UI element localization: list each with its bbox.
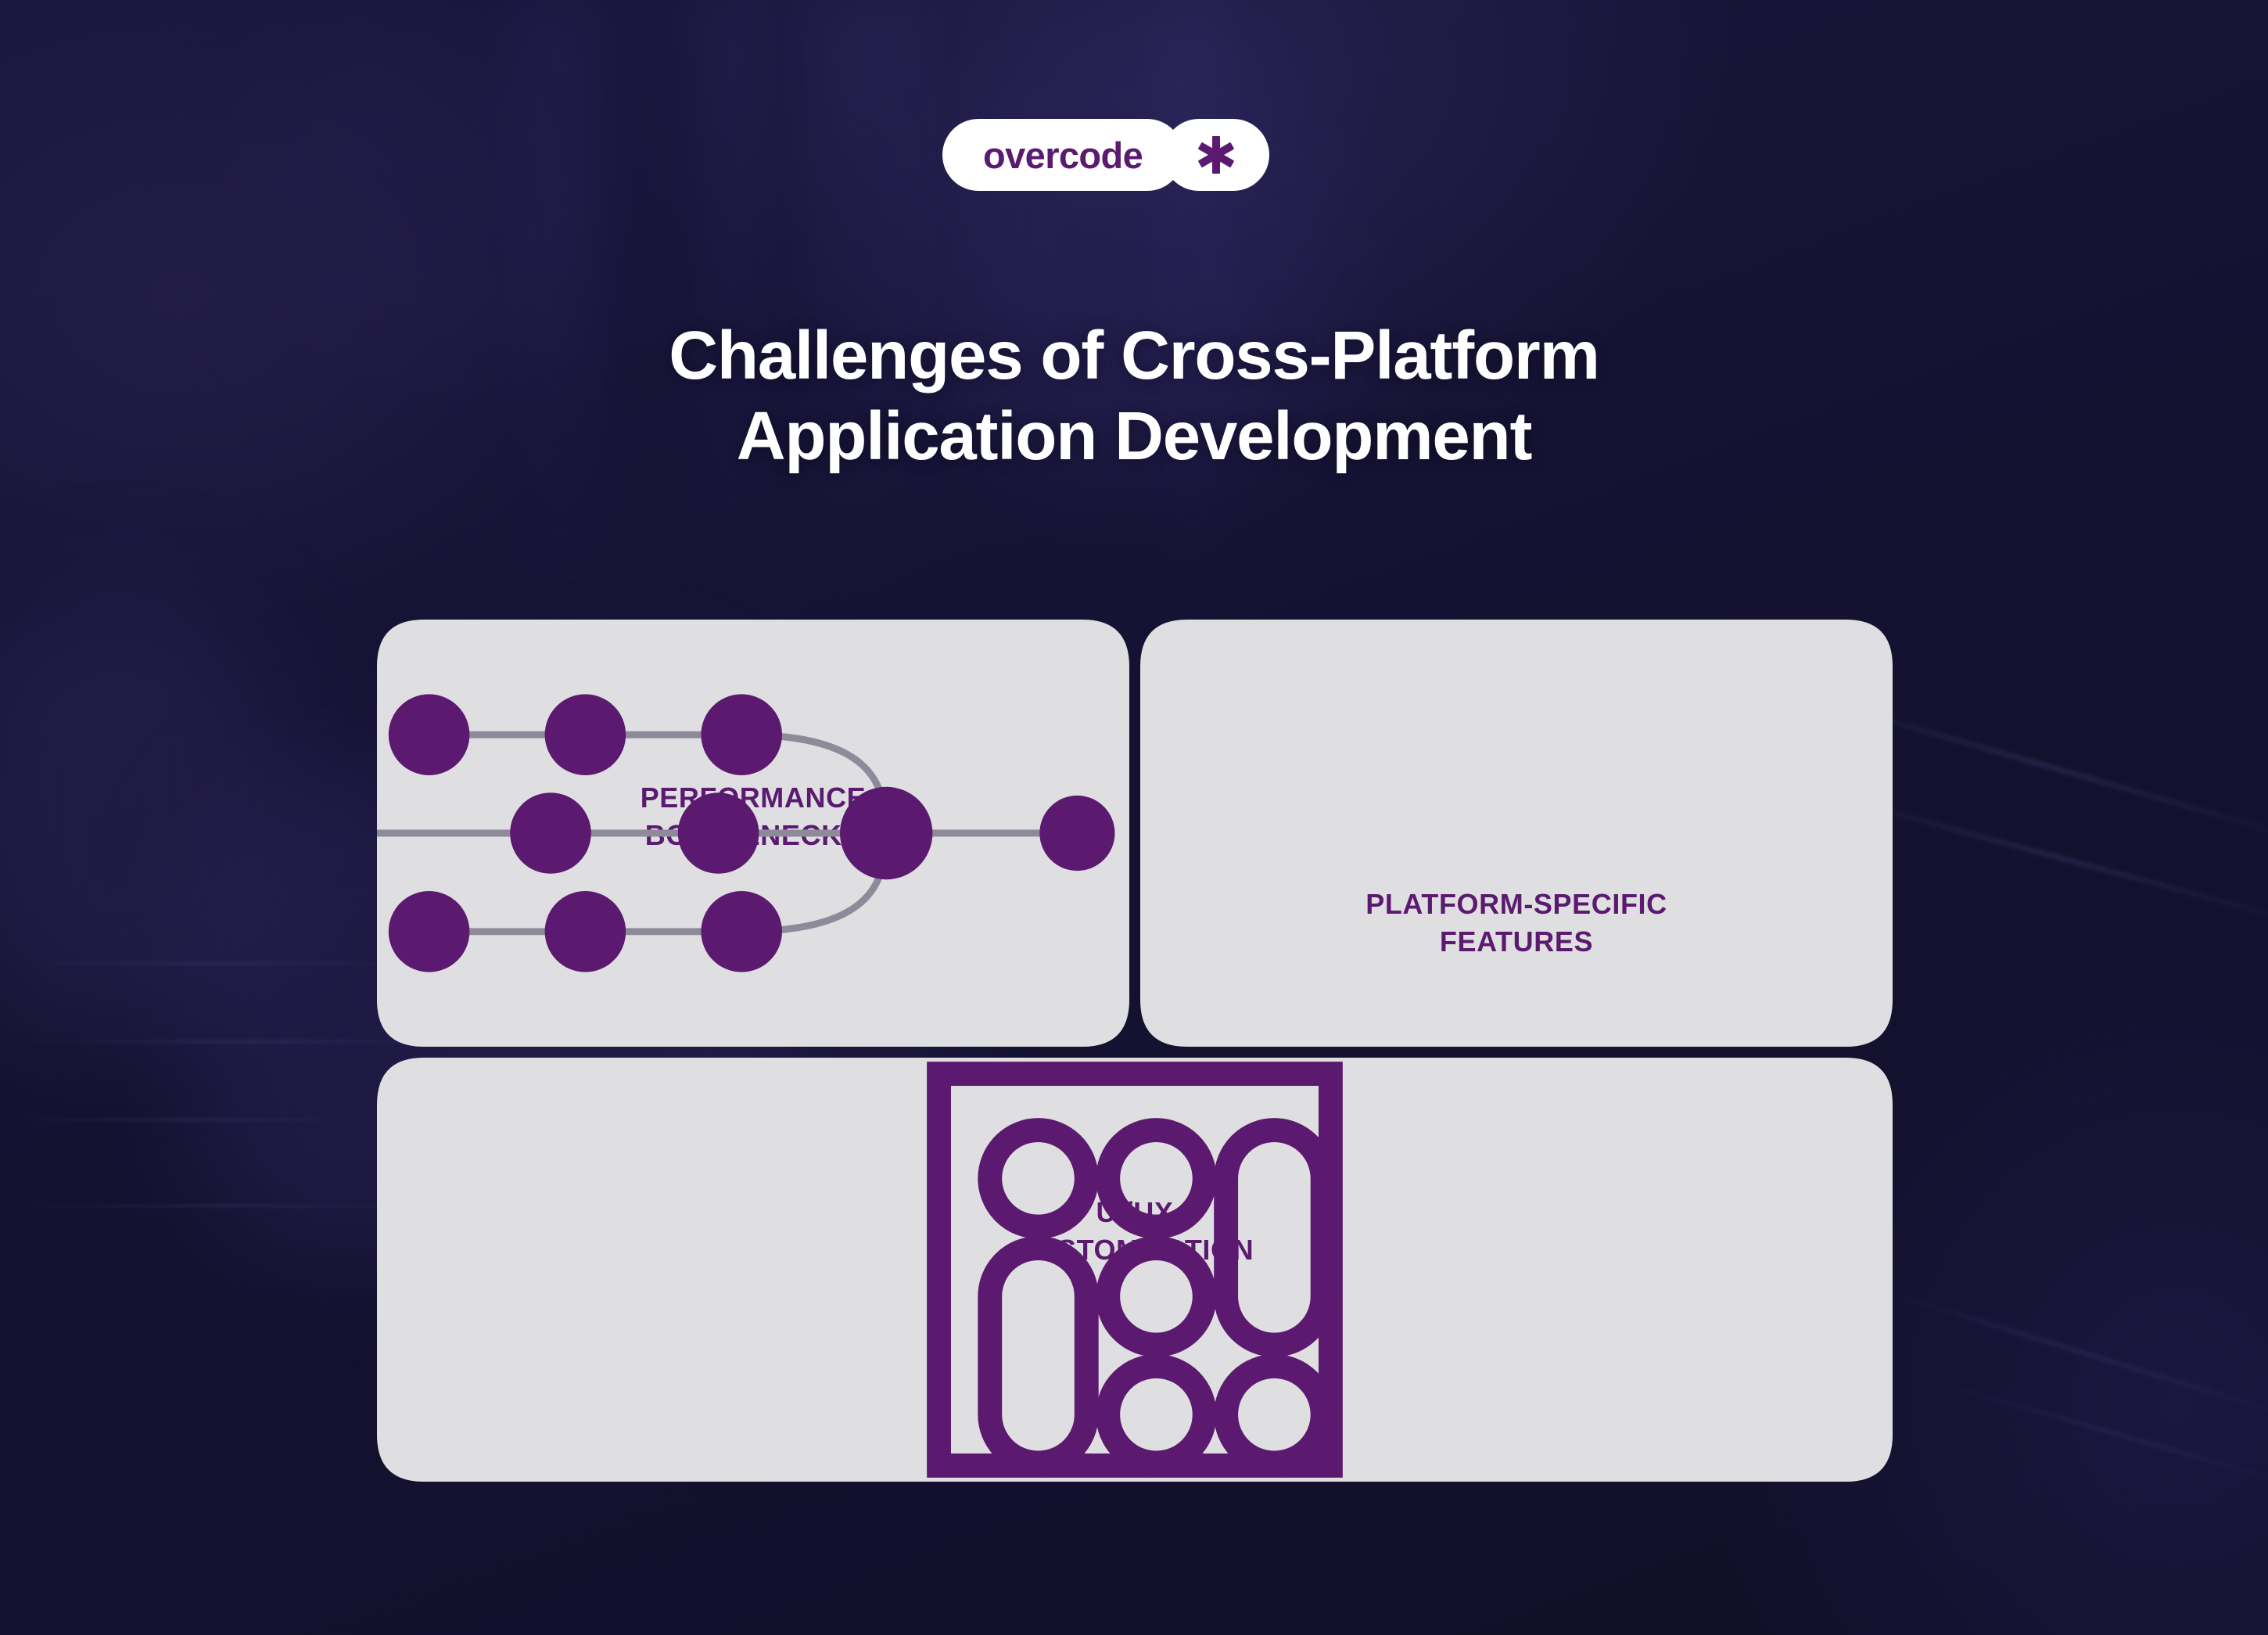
card-label-line-1: PLATFORM-SPECIFIC: [1365, 886, 1667, 923]
asterisk-icon: [1194, 133, 1238, 177]
page-title: Challenges of Cross-Platform Application…: [0, 316, 2268, 476]
card-uiux-customization[interactable]: UI/UX CUSTOMIZATION: [377, 1058, 1893, 1482]
page-title-line-2: Application Development: [0, 397, 2268, 477]
page-title-line-1: Challenges of Cross-Platform: [0, 316, 2268, 397]
brand-name: overcode: [983, 137, 1143, 174]
challenge-card-group: PERFORMANCE BOTTLENECKS PLATFORM-SPECIFI…: [377, 620, 1893, 1482]
card-performance-bottlenecks[interactable]: PERFORMANCE BOTTLENECKS: [377, 620, 1129, 1047]
card-label-platform-specific-features: PLATFORM-SPECIFIC FEATURES: [1365, 886, 1667, 960]
card-platform-specific-features[interactable]: PLATFORM-SPECIFIC FEATURES: [1140, 620, 1893, 1047]
card-label-line-2: FEATURES: [1365, 923, 1667, 961]
brand-logo[interactable]: overcode: [942, 119, 1269, 191]
brand-logo-pill: overcode: [942, 119, 1183, 191]
